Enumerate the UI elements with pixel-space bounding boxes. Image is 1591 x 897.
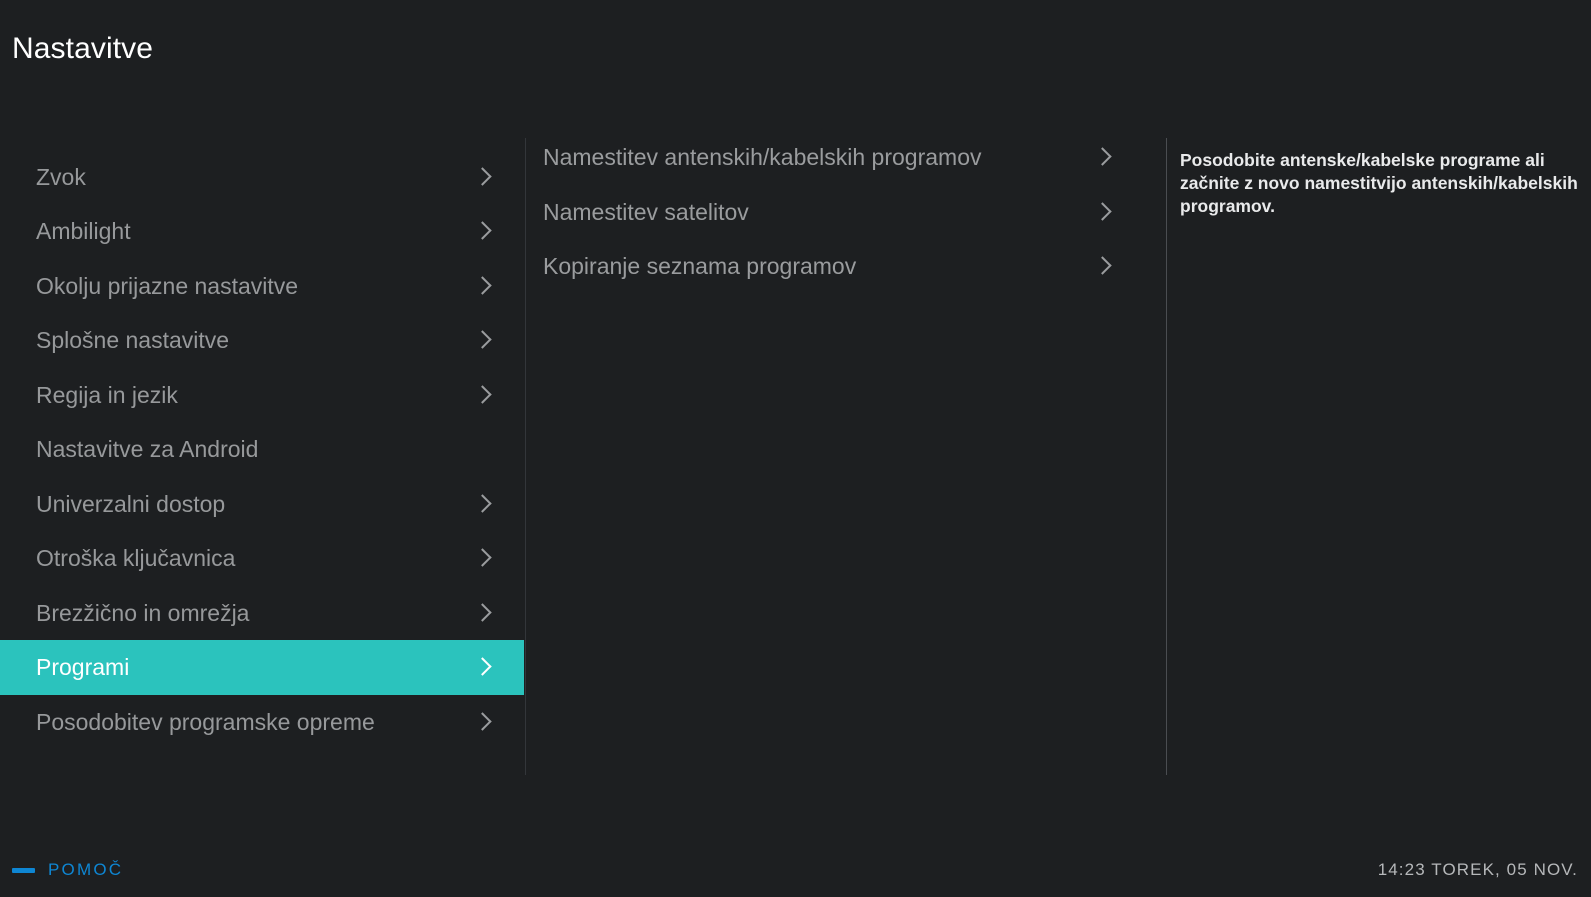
sidebar-item-label: Programi [36, 652, 474, 682]
sidebar-item[interactable]: Posodobitev programske opreme [0, 695, 524, 750]
chevron-right-icon [474, 436, 494, 462]
middle-panel-item[interactable]: Namestitev satelitov [526, 185, 1166, 240]
chevron-right-icon [1094, 144, 1114, 170]
sidebar-item-label: Splošne nastavitve [36, 325, 474, 355]
description-panel: Posodobite antenske/kabelske programe al… [1167, 130, 1591, 775]
sidebar-item-label: Okolju prijazne nastavitve [36, 271, 474, 301]
chevron-right-icon [474, 382, 494, 408]
chevron-right-icon [474, 273, 494, 299]
middle-panel: Namestitev antenskih/kabelskih programov… [526, 130, 1166, 775]
footer-bar: POMOČ 14:23 TOREK, 05 NOV. [0, 827, 1591, 897]
chevron-right-icon [474, 218, 494, 244]
sidebar-item[interactable]: Programi [0, 640, 524, 695]
sidebar-item-label: Ambilight [36, 216, 474, 246]
help-button[interactable]: POMOČ [12, 860, 123, 880]
middle-panel-item-label: Namestitev antenskih/kabelskih programov [543, 142, 1094, 172]
sidebar-item[interactable]: Brezžično in omrežja [0, 586, 524, 641]
sidebar-item[interactable]: Ambilight [0, 204, 524, 259]
page-title: Nastavitve [12, 30, 153, 68]
sidebar: SlikaZvokAmbilightOkolju prijazne nastav… [0, 130, 524, 775]
sidebar-item-label: Brezžično in omrežja [36, 598, 474, 628]
description-text: Posodobite antenske/kabelske programe al… [1180, 149, 1580, 218]
chevron-right-icon [474, 600, 494, 626]
sidebar-scroll-container[interactable]: SlikaZvokAmbilightOkolju prijazne nastav… [0, 130, 524, 749]
sidebar-item[interactable]: Splošne nastavitve [0, 313, 524, 368]
middle-panel-item-label: Kopiranje seznama programov [543, 251, 1094, 281]
chevron-right-icon [474, 654, 494, 680]
sidebar-item[interactable]: Slika [0, 130, 524, 150]
sidebar-item-label: Regija in jezik [36, 380, 474, 410]
chevron-right-icon [474, 327, 494, 353]
sidebar-item-label: Nastavitve za Android [36, 434, 474, 464]
sidebar-item[interactable]: Univerzalni dostop [0, 477, 524, 532]
sidebar-item-label: Slika [36, 130, 474, 137]
chevron-right-icon [474, 709, 494, 735]
chevron-right-icon [474, 164, 494, 190]
sidebar-item-label: Posodobitev programske opreme [36, 707, 474, 737]
sidebar-item-label: Otroška ključavnica [36, 543, 474, 573]
sidebar-item[interactable]: Otroška ključavnica [0, 531, 524, 586]
sidebar-item[interactable]: Zvok [0, 150, 524, 205]
sidebar-item-label: Zvok [36, 162, 474, 192]
dash-icon [12, 868, 35, 873]
sidebar-item[interactable]: Regija in jezik [0, 368, 524, 423]
chevron-right-icon [1094, 253, 1114, 279]
settings-panes: SlikaZvokAmbilightOkolju prijazne nastav… [0, 130, 1591, 775]
sidebar-item[interactable]: Okolju prijazne nastavitve [0, 259, 524, 314]
clock-datetime: 14:23 TOREK, 05 NOV. [1378, 860, 1578, 880]
middle-panel-item-label: Namestitev satelitov [543, 197, 1094, 227]
middle-panel-item[interactable]: Kopiranje seznama programov [526, 239, 1166, 294]
chevron-right-icon [1094, 199, 1114, 225]
sidebar-item[interactable]: Nastavitve za Android [0, 422, 524, 477]
sidebar-item-label: Univerzalni dostop [36, 489, 474, 519]
chevron-right-icon [474, 491, 494, 517]
chevron-right-icon [474, 545, 494, 571]
help-button-label: POMOČ [48, 860, 123, 880]
middle-panel-item[interactable]: Namestitev antenskih/kabelskih programov [526, 130, 1166, 185]
sidebar-bottom-fade [0, 759, 524, 775]
chevron-right-icon [474, 130, 494, 135]
